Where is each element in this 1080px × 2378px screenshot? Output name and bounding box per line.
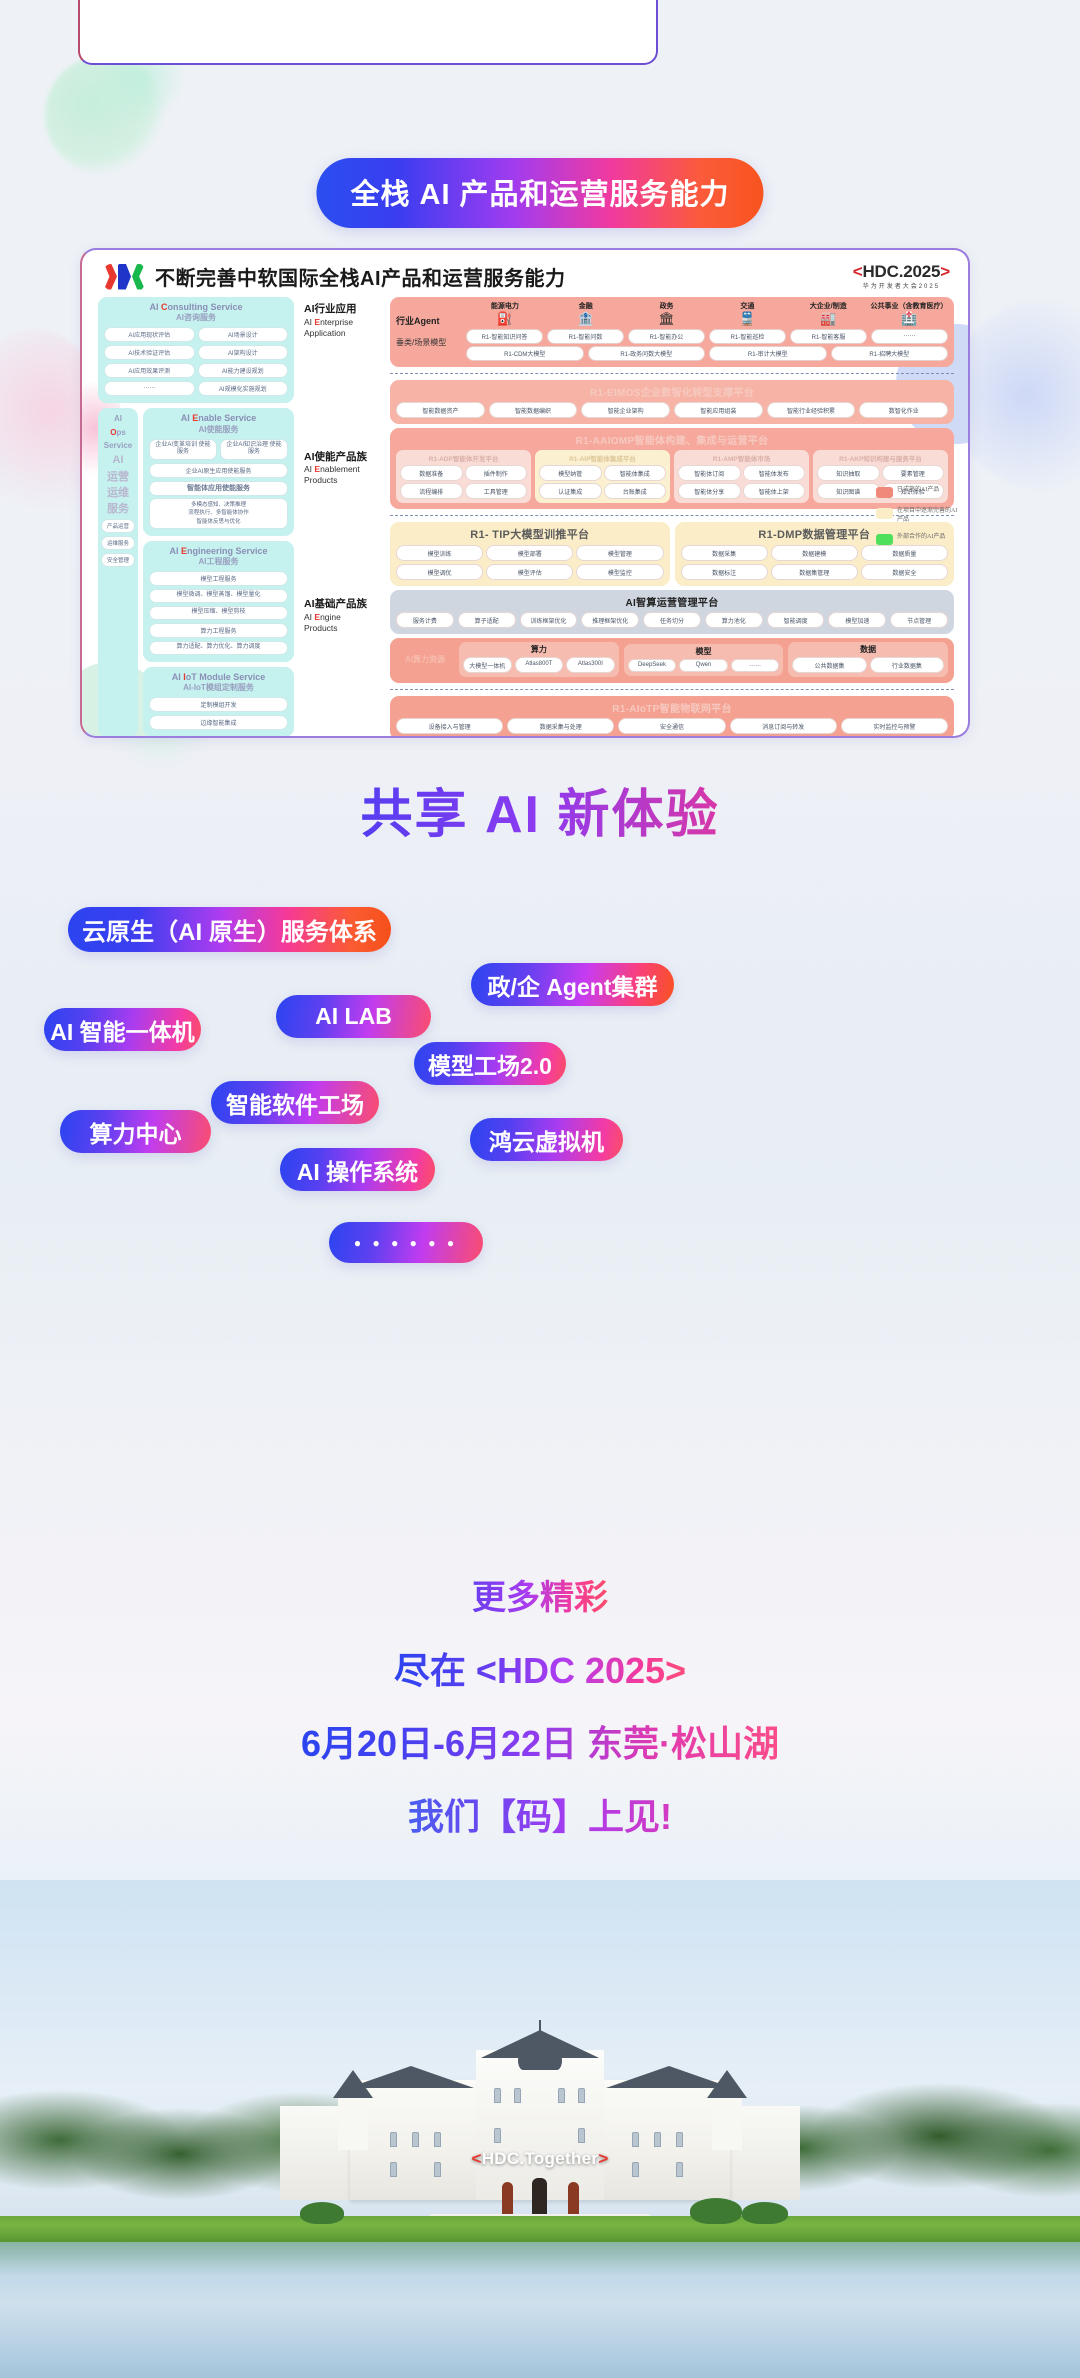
aaiomp-item: 智能体订阅 [678,465,741,481]
aimop-item: 模型加速 [828,612,886,628]
hdc-bracket-right: > [940,262,950,281]
castle-window [654,2132,661,2147]
hdc-together-text: <HDC.Together> [471,2149,608,2169]
agent-model: R1-政务问数大模型 [588,346,706,361]
resource-group-compute: 算力 大模型一体机 Atlas800T Atlas300I [459,642,619,677]
layer-label-engine-products: AI基础产品族 AI Engine Products [304,598,384,634]
chip: AI技术验证评估 [104,345,195,360]
bottom-line-date-location: 6月20日-6月22日 东莞·松山湖 [0,1715,1080,1767]
castle-window [558,2088,565,2103]
aaiomp-item: 智能体发布 [743,465,806,481]
agent-band-labels: 行业Agent 垂类/场景模型 [396,301,460,361]
dmp-item: 数据安全 [861,564,948,580]
layer-label-en2: Application [304,328,384,339]
tag-gov-enterprise-agent-cluster[interactable]: 政/企 Agent集群 [471,963,674,1006]
aiotp-band: R1-AIoTP智能物联网平台 设备接入与管理 数据采集与处理 安全通信 消息订… [390,696,954,738]
tag-cloud-native-service-system[interactable]: 云原生（AI 原生）服务体系 [68,907,391,952]
chip: 算力工程服务 [149,623,288,638]
aaiomp-item: 流程编排 [400,483,463,499]
layer-label-en-post: ngine [320,612,341,622]
top-table-card: 云资源销售 DeepSeek 盘古 MiniMax LLaMA …… 公有云销售… [78,0,658,65]
ops-chip: 产品运营 [101,519,135,533]
layer-label-cn: AI基础产品族 [304,598,384,612]
tip-item: 模型调优 [396,564,483,580]
services-column: AI Consulting Service AI咨询服务 AI应用现状评估 AI… [98,297,294,738]
legend-item: 在项目中逐渐完善的AI产品 [876,507,960,524]
ai-iot-module-service-box: AI IoT Module Service AI-IoT模组定制服务 定制模组开… [143,667,294,737]
aaiomp-card: R1-AMP智能体市场 智能体订阅 智能体发布 智能体分享 智能体上架 [674,450,809,503]
layer-label-enablement-products: AI使能产品族 AI Enablement Products [304,451,384,487]
tag-ai-lab[interactable]: AI LAB [276,995,431,1038]
architecture-diagram-card: 不断完善中软国际全栈AI产品和运营服务能力 <HDC.2025> 华为开发者大会… [80,248,970,738]
industry-name: 大企业/制造 [789,301,867,311]
chip: 定制模组开发 [149,697,288,712]
aaiomp-card: R1-AIP智能体集成平台 模型纳管 智能体集成 认证集成 台账集成 [535,450,670,503]
iot-title-post: oT Module Service [186,672,266,682]
diagram-title: 不断完善中软国际全栈AI产品和运营服务能力 [155,262,566,291]
chip: 模型压缩、模型剪枝 [149,606,288,620]
aimop-item: 智能调度 [767,612,825,628]
layer-label-en-pre: AI [304,317,314,327]
agent-model: R1-智能客服 [790,329,867,344]
agent-app-enable-lines: 多模态感知、决策推理 流程执行、多智能体协作 智能体反思与优化 [149,498,288,529]
aimop-item: 训练框架优化 [520,612,578,628]
aaiomp-item: 智能体分享 [678,483,741,499]
diagram-body: AI Consulting Service AI咨询服务 AI应用现状评估 AI… [82,297,968,738]
castle-side-door [568,2182,579,2216]
diagram-header: 不断完善中软国际全栈AI产品和运营服务能力 <HDC.2025> 华为开发者大会… [82,250,968,297]
resource-item: 大模型一体机 [463,657,512,673]
industry-item: 大企业/制造 🏭 [789,301,867,327]
agent-app-enable-title: 智能体应用使能服务 [149,481,288,496]
share-ai-heading: 共享 AI 新体验 [0,772,1080,847]
tag-smart-software-factory[interactable]: 智能软件工场 [211,1081,379,1124]
aaiomp-item: 知识抽取 [817,465,880,481]
chip: AI应用效果评测 [104,363,195,378]
castle-window [494,2128,501,2143]
chip: AI能力建设规划 [198,363,289,378]
aaiomp-item: 要素管理 [882,465,945,481]
aimop-item: 推理框架优化 [581,612,639,628]
bottom-line-text: 6月20日-6月22日 东莞·松山湖 [301,1723,779,1764]
resource-item: Atlas300I [566,657,615,673]
enable-title-pre: AI [181,413,193,423]
castle-window [390,2132,397,2147]
resource-item: 行业数据集 [870,657,944,673]
ops-title-line1: AI [114,414,122,424]
castle-window [676,2132,683,2147]
tip-item: 模型监控 [576,564,663,580]
eimos-item: 智能应用组装 [674,402,763,418]
ops-big-2: 运营 [107,471,129,484]
eimos-items: 智能数据资产 智能数据编织 智能企业架构 智能应用组装 智能行业经验积累 数智化… [396,402,948,418]
layer-label-en-pre: AI [304,464,314,474]
ops-title-line3: Service [104,441,132,451]
agent-model: …… [871,329,948,344]
aiotp-item: 实时监控与预警 [841,718,948,734]
castle-window [578,2088,585,2103]
aaiomp-item: 认证集成 [539,483,602,499]
eimos-item: 数智化作业 [859,402,948,418]
chip: AI规模化实施规划 [198,381,289,396]
aaiomp-item: 工具管理 [465,483,528,499]
together-bracket-right: > [598,2149,608,2168]
ops-chip: 安全管理 [101,553,135,567]
agent-label-2: 垂类/场景模型 [396,337,460,348]
tip-item: 模型训练 [396,545,483,561]
legend-item: 外部合作的AI产品 [876,533,960,545]
legend-label: 外部合作的AI产品 [897,533,945,542]
aaiomp-card-title: R1-AMP智能体市场 [678,453,805,463]
ai-ops-service-rail: AI Ops Service AI 运营 运维 服务 产品运营 运维服务 安全管… [98,408,138,737]
industry-name: 交通 [708,301,786,311]
ai-engineering-service-box: AI Engineering Service AI工程服务 模型工程服务 模型微… [143,541,294,662]
aimop-item: 任务切分 [643,612,701,628]
resource-item: 公共数据集 [792,657,866,673]
layer-label-en-post: nablement [320,464,360,474]
castle-side-door [502,2182,513,2216]
industry-name: 金融 [547,301,625,311]
industry-finance-icon: 🏦 [547,311,625,327]
together-bracket-left: < [471,2149,481,2168]
industry-item: 交通 🚆 [708,301,786,327]
engineering-title-pre: AI [169,546,181,556]
bottom-line-see-you: 我们【码】上见! [0,1788,1080,1840]
mdc-logo-icon [104,264,145,290]
layer-label-en-post: nterprise [320,317,353,327]
consulting-subtitle: AI咨询服务 [104,313,288,323]
tag-model-factory-2-0[interactable]: 模型工场2.0 [414,1042,566,1085]
together-label: HDC.Together [482,2149,599,2168]
divider-dashed [390,373,954,374]
photo-lake [0,2242,1080,2378]
industry-item: 政务 🏛 [628,301,706,327]
castle-window [632,2162,639,2177]
engineering-title-post: ngineering Service [187,546,268,556]
resource-group-name: 模型 [628,646,780,657]
legend-item: 已成熟的AI产品 [876,486,960,498]
bottom-line-text: 更多精彩 [472,1579,608,1617]
legend-swatch-partner [876,534,893,545]
aaiomp-item: 智能体上架 [743,483,806,499]
industry-transport-icon: 🚆 [708,311,786,327]
divider-dashed [390,689,954,690]
chip: 模型工程服务 [149,571,288,586]
ops-chip: 运维服务 [101,536,135,550]
industry-item: 金融 🏦 [547,301,625,327]
ai-consulting-service-box: AI Consulting Service AI咨询服务 AI应用现状评估 AI… [98,297,294,403]
chip: 算力适配、算力优化、算力调度 [149,641,288,655]
resource-group-name: 数据 [792,644,944,655]
tip-title: R1- TIP大模型训推平台 [396,526,664,542]
enable-chip-list: 企业AI变革培训 使能服务 企业AI知识治理 使能服务 企业AI原生应用使能服务 [149,439,288,479]
agent-models-row-2: R1-CDM大模型 R1-政务问数大模型 R1-审计大模型 R1-招聘大模型 [466,346,948,361]
agent-line: 流程执行、多智能体协作 [153,509,284,517]
section-badge: 全栈 AI 产品和运营服务能力 [316,158,763,228]
ai-enable-service-box: AI Enable Service AI使能服务 企业AI变革培训 使能服务 企… [143,408,294,536]
resource-group-name: 算力 [463,644,615,655]
enable-title-post: nable Service [198,413,256,423]
industry-list: 能源电力 ⛽ 金融 🏦 政务 🏛 交通 🚆 [466,301,948,327]
resource-group-model: 模型 DeepSeek Qwen …… [624,644,784,676]
resource-group-data: 数据 公共数据集 行业数据集 [788,642,948,677]
aaiomp-title: R1-AAIOMP智能体构建、集成与运营平台 [396,432,948,447]
chip: 企业AI知识治理 使能服务 [220,439,288,461]
tag-ai-operating-system[interactable]: AI 操作系统 [280,1148,435,1191]
agent-model: R1-CDM大模型 [466,346,584,361]
hdc-logo-text: HDC.2025 [862,262,940,281]
castle-main-door [532,2178,547,2216]
enable-engineering-column: AI Enable Service AI使能服务 企业AI变革培训 使能服务 企… [143,408,294,737]
castle-window [514,2088,521,2103]
agent-model: R1-智能办公 [628,329,705,344]
chip: AI架构设计 [198,345,289,360]
tip-item: 模型部署 [486,545,573,561]
product-bands-column: 行业Agent 垂类/场景模型 能源电力 ⛽ 金融 🏦 [390,297,954,738]
aimop-item: 算子适配 [458,612,516,628]
tip-dmp-row: R1- TIP大模型训推平台 模型训练 模型部署 模型管理 模型调优 模型评估 … [390,522,954,586]
eimos-title: R1-EIMOS企业数智化转型支撑平台 [396,384,948,399]
castle-window [632,2132,639,2147]
ops-big-3: 运维 [107,487,129,500]
castle-turret-right [712,2096,742,2150]
bottom-line-more-highlights: 更多精彩 [0,1570,1080,1619]
resource-tag: AI算力资源 [396,654,454,665]
aimop-band: AI智算运营管理平台 服务计费 算子适配 训练框架优化 推理框架优化 任务切分 … [390,590,954,634]
tip-item: 模型评估 [486,564,573,580]
bottom-line-text: 我们【码】上见! [408,1796,672,1837]
layer-label-en2: Products [304,623,384,634]
layer-label-enterprise-application: AI行业应用 AI Enterprise Application [304,303,384,339]
tag-hongyun-virtual-machine[interactable]: 鸿云虚拟机 [470,1118,623,1161]
ops-and-enable-row: AI Ops Service AI 运营 运维 服务 产品运营 运维服务 安全管… [98,408,294,737]
hdc-logo-subtitle: 华为开发者大会2025 [853,284,950,290]
aiotp-item: 数据采集与处理 [507,718,614,734]
industry-government-icon: 🏛 [628,311,706,327]
resource-item: Atlas800T [515,657,564,673]
eimos-band: R1-EIMOS企业数智化转型支撑平台 智能数据资产 智能数据编织 智能企业架构… [390,380,954,424]
chip: 边缘智能集成 [149,715,288,730]
industry-agent-band: 行业Agent 垂类/场景模型 能源电力 ⛽ 金融 🏦 [390,297,954,367]
aaiomp-item: 台账集成 [604,483,667,499]
agent-model: R1-审计大模型 [709,346,827,361]
castle-window [578,2128,585,2143]
castle-turret-left [338,2096,368,2150]
aaiomp-item: 知识图谱 [817,483,880,499]
bottom-line-text: 尽在 <HDC 2025> [394,1650,686,1691]
layer-label-cn: AI行业应用 [304,303,384,317]
industry-item: 能源电力 ⛽ [466,301,544,327]
tip-platform-band: R1- TIP大模型训推平台 模型训练 模型部署 模型管理 模型调优 模型评估 … [390,522,670,586]
agent-label-1: 行业Agent [396,314,460,327]
tag-ai-smart-all-in-one[interactable]: AI 智能一体机 [44,1008,201,1051]
castle-window [676,2162,683,2177]
agent-models-row-1: R1-智能知识问答 R1-智能问数 R1-智能办公 R1-智能巡检 R1-智能客… [466,329,948,344]
industry-item: 公共事业（含教育医疗） 🏥 [870,301,948,327]
aaiomp-band: R1-AAIOMP智能体构建、集成与运营平台 R1-ADP智能体开发平台 数据准… [390,428,954,509]
hdc-2025-logo: <HDC.2025> 华为开发者大会2025 [853,263,950,290]
agent-model: R1-智能知识问答 [466,329,543,344]
ops-big-1: AI [113,454,124,467]
decor-blob-green-top-left [45,55,165,175]
aiotp-title: R1-AIoTP智能物联网平台 [396,700,948,715]
dmp-item: 数据集管理 [771,564,858,580]
resource-item: DeepSeek [628,659,677,672]
industry-name: 能源电力 [466,301,544,311]
aiotp-item: 安全通信 [618,718,725,734]
chip: AI应用现状评估 [104,327,195,342]
eimos-item: 智能数据资产 [396,402,485,418]
legend-label: 已成熟的AI产品 [897,486,939,495]
aaiomp-card-title: R1-AIP智能体集成平台 [539,453,666,463]
eimos-item: 智能数据编织 [489,402,578,418]
photo-shrub [300,2202,344,2224]
aaiomp-card: R1-ADP智能体开发平台 数据准备 插件制作 流程编排 工具管理 [396,450,531,503]
eimos-item: 智能企业架构 [581,402,670,418]
ops-big-4: 服务 [107,503,129,516]
aimop-item: 节点管理 [890,612,948,628]
dmp-item: 数据标注 [681,564,768,580]
aiotp-item: 消息订阅与转发 [730,718,837,734]
ops-title-rest: ps [116,428,125,437]
enable-subtitle: AI使能服务 [149,425,288,435]
tip-item: 模型管理 [576,545,663,561]
photo-shrub [742,2202,788,2224]
industry-manufacturing-icon: 🏭 [789,311,867,327]
chip: 企业AI原生应用使能服务 [149,463,288,478]
layer-label-en-pre: AI [304,612,314,622]
consulting-title-post: onsulting Service [167,302,242,312]
layer-labels-column: AI行业应用 AI Enterprise Application AI使能产品族… [300,297,384,738]
aaiomp-item: 模型纳管 [539,465,602,481]
chip: …… [104,381,195,396]
chip: AI场景设计 [198,327,289,342]
chip: 企业AI变革培训 使能服务 [149,439,217,461]
dmp-item: 数据建模 [771,545,858,561]
aaiomp-cards: R1-ADP智能体开发平台 数据准备 插件制作 流程编排 工具管理 R1-AIP… [396,450,948,503]
aaiomp-card-title: R1-AKP知识构建与服务平台 [817,453,944,463]
resource-item: …… [731,659,780,672]
legend-label: 在项目中逐渐完善的AI产品 [897,507,960,524]
castle-window [434,2132,441,2147]
iot-chip-list: 定制模组开发 边缘智能集成 [149,697,288,730]
diagram-legend: 已成熟的AI产品 在项目中逐渐完善的AI产品 外部合作的AI产品 [876,486,960,554]
photo-shrub [690,2198,742,2224]
castle-building [280,2036,800,2216]
aimop-item: 算力池化 [705,612,763,628]
layer-label-cn: AI使能产品族 [304,451,384,465]
aaiomp-card-title: R1-ADP智能体开发平台 [400,453,527,463]
industry-name: 政务 [628,301,706,311]
agent-line: 智能体反思与优化 [153,518,284,526]
tag-more-dots[interactable]: ● ● ● ● ● ● [329,1222,483,1263]
consulting-title-pre: AI [149,302,161,312]
aaiomp-item: 智能体集成 [604,465,667,481]
tag-compute-center[interactable]: 算力中心 [60,1110,211,1153]
dmp-item: 数据采集 [681,545,768,561]
aiotp-item: 设备接入与管理 [396,718,503,734]
ai-compute-resource-band: AI算力资源 算力 大模型一体机 Atlas800T Atlas300I 模型 … [390,638,954,683]
resource-item: Qwen [679,659,728,672]
castle-window [434,2162,441,2177]
agent-line: 多模态感知、决策推理 [153,501,284,509]
castle-window [412,2132,419,2147]
iot-subtitle: AI-IoT模组定制服务 [149,683,288,693]
aimop-item: 服务计费 [396,612,454,628]
aaiomp-item: 数据准备 [400,465,463,481]
aimop-title: AI智算运营管理平台 [396,594,948,609]
bottom-line-at-hdc: 尽在 <HDC 2025> [0,1642,1080,1694]
engineering-chip-list: 模型工程服务 模型微调、模型蒸馏、模型量化 模型压缩、模型剪枝 算力工程服务 算… [149,571,288,654]
venue-photo: <HDC.Together> [0,1880,1080,2378]
industry-energy-icon: ⛽ [466,311,544,327]
divider-dashed [390,515,954,516]
industry-public-service-icon: 🏥 [870,311,948,327]
engineering-subtitle: AI工程服务 [149,557,288,567]
iot-title-pre: AI [172,672,184,682]
industry-name: 公共事业（含教育医疗） [870,301,948,311]
agent-model: R1-招聘大模型 [831,346,949,361]
legend-swatch-mature [876,487,893,498]
aaiomp-item: 插件制作 [465,465,528,481]
castle-window [390,2162,397,2177]
agent-model: R1-智能巡检 [709,329,786,344]
consulting-chip-list: AI应用现状评估 AI场景设计 AI技术验证评估 AI架构设计 AI应用效果评测… [104,327,288,396]
castle-window [494,2088,501,2103]
legend-swatch-in-progress [876,508,893,519]
chip: 模型微调、模型蒸馏、模型量化 [149,589,288,603]
layer-label-en2: Products [304,475,384,486]
eimos-item: 智能行业经验积累 [767,402,856,418]
agent-model: R1-智能问数 [547,329,624,344]
